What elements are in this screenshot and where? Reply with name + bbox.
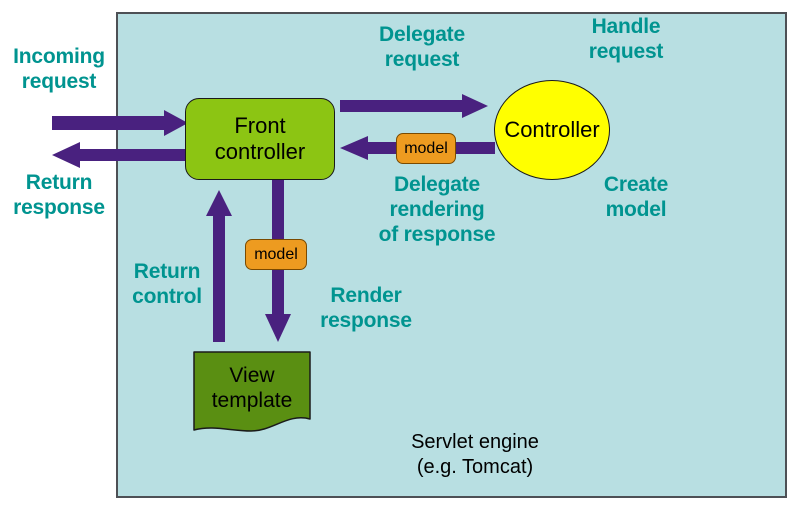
front-controller-label: Front controller bbox=[215, 113, 305, 165]
handle-request-label: Handle request bbox=[560, 14, 692, 64]
model-badge-left-label: model bbox=[254, 246, 298, 264]
return-response-label: Return response bbox=[0, 170, 118, 220]
diagram-canvas: Front controller Controller View templat… bbox=[0, 0, 800, 513]
create-model-label: Create model bbox=[570, 172, 702, 222]
view-template-label: View template bbox=[193, 363, 311, 413]
model-badge-front-to-view[interactable]: model bbox=[245, 239, 307, 270]
model-badge-top-label: model bbox=[404, 140, 448, 158]
delegate-request-label: Delegate request bbox=[356, 22, 488, 72]
return-response-arrow bbox=[52, 142, 192, 168]
controller-node[interactable]: Controller bbox=[494, 80, 610, 180]
view-template-node[interactable]: View template bbox=[193, 351, 311, 433]
return-control-label: Return control bbox=[108, 259, 226, 309]
model-badge-controller-to-front[interactable]: model bbox=[396, 133, 456, 164]
incoming-request-label: Incoming request bbox=[0, 44, 118, 94]
render-response-label: Render response bbox=[300, 283, 432, 333]
delegate-request-arrow bbox=[340, 94, 490, 118]
incoming-request-arrow bbox=[52, 110, 192, 136]
controller-label: Controller bbox=[504, 117, 599, 143]
servlet-engine-caption: Servlet engine (e.g. Tomcat) bbox=[360, 430, 590, 480]
delegate-rendering-label: Delegate rendering of response bbox=[367, 172, 507, 247]
front-controller-node[interactable]: Front controller bbox=[185, 98, 335, 180]
